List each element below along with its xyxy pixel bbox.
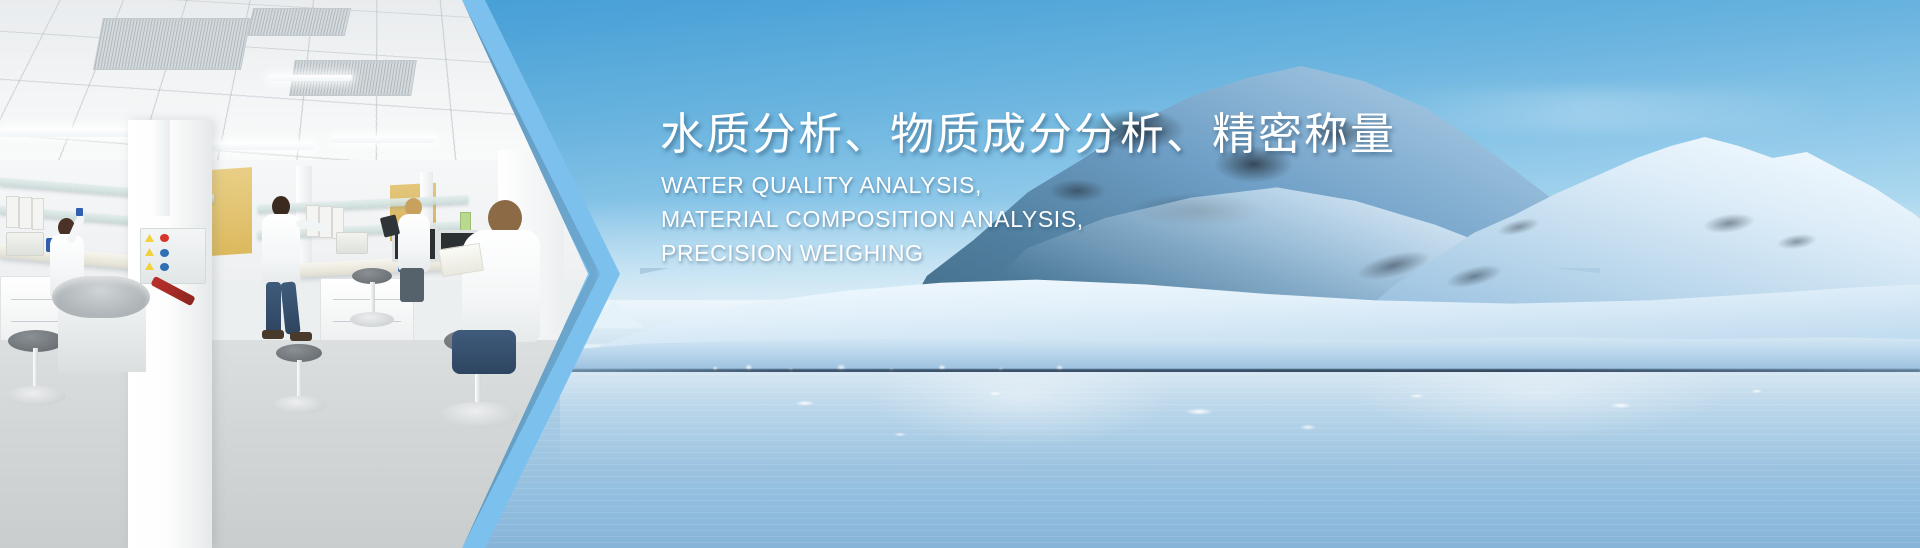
lab-stool-base [440,402,518,428]
mandatory-sign-icon [160,249,169,257]
mandatory-sign-icon [160,263,169,271]
floating-ice-chunks [560,372,1920,492]
binder [6,196,19,228]
lab-instrument [336,232,368,254]
ceiling-vent [93,18,251,70]
banner-subtitle: WATER QUALITY ANALYSIS, MATERIAL COMPOSI… [661,168,1084,270]
lab-coat [398,214,430,272]
shoe [262,330,284,339]
hero-banner: 水质分析、物质成分分析、精密称量 WATER QUALITY ANALYSIS,… [0,0,1920,548]
trousers [400,268,424,302]
prohibition-sign-icon [160,234,169,242]
trousers [266,282,281,334]
sample-vial [76,208,83,216]
fluorescent-light [332,136,437,143]
mountain-rock-band-right [1673,169,1857,302]
lab-coat [262,214,300,286]
lab-stool-base [350,312,394,327]
lab-instrument [6,232,44,256]
binder [19,197,32,229]
fume-column-upright [150,120,170,216]
lab-stool-post [370,282,375,316]
laboratory-photo [0,0,588,548]
trousers [280,281,300,334]
lab-stool-base [272,396,326,414]
drawer-line [333,299,401,300]
laboratory-interior [0,0,588,548]
lab-stool-base [6,386,66,406]
subtitle-line-1: WATER QUALITY ANALYSIS, [661,168,1084,202]
subtitle-line-2: MATERIAL COMPOSITION ANALYSIS, [661,202,1084,236]
ceiling-vent [247,8,351,36]
lab-sink [52,276,150,318]
shoe [290,332,312,341]
subtitle-line-3: PRECISION WEIGHING [661,236,1084,270]
binder [32,198,44,230]
banner-headline: 水质分析、物质成分分析、精密称量 [660,98,1396,162]
trousers [452,330,516,374]
fluorescent-light [267,75,352,81]
binder [319,206,332,238]
